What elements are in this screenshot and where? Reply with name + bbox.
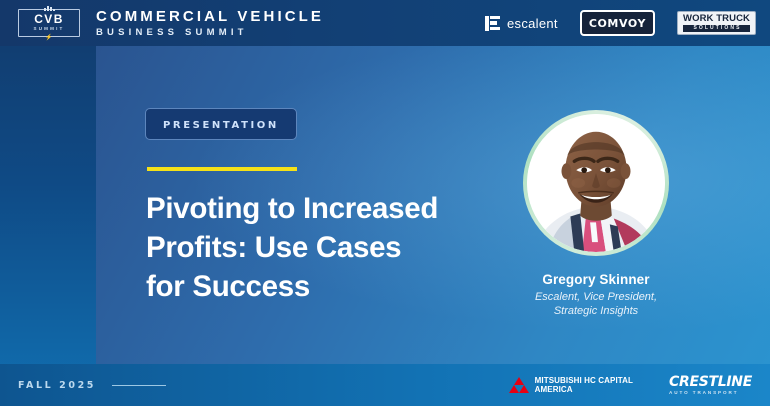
crestline-line-1: CRESTLINE <box>669 375 752 389</box>
slide-left-band <box>0 0 96 406</box>
event-brand-text: COMMERCIAL VEHICLE BUSINESS SUMMIT <box>96 9 324 38</box>
speaker-avatar <box>527 114 665 252</box>
cvb-logo-main: CVB <box>34 14 64 25</box>
accent-rule <box>147 167 297 171</box>
presentation-badge-label: PRESENTATION <box>163 120 279 131</box>
crestline-line-2: AUTO TRANSPORT <box>669 391 752 396</box>
partner-logo-comvoy: COMVOY <box>580 10 655 36</box>
work-truck-line-2: SOLUTIONS <box>683 25 750 32</box>
slide-title: Pivoting to Increased Profits: Use Cases… <box>146 189 495 306</box>
mitsubishi-line-2: AMERICA <box>535 385 633 395</box>
work-truck-line-1: WORK TRUCK <box>683 14 750 24</box>
slide-title-line-2: Profits: Use Cases <box>146 228 495 267</box>
brand-line-2: BUSINESS SUMMIT <box>96 28 324 38</box>
speaker-photo-ring <box>523 110 669 256</box>
sponsor-logo-mitsubishi: MITSUBISHI HC CAPITAL AMERICA <box>510 376 633 395</box>
truck-silhouette-icon <box>36 6 62 11</box>
bolt-icon: ⚡ <box>45 35 52 41</box>
cvb-logo-box: CVB SUMMIT <box>18 9 80 37</box>
cvb-logo-sub: SUMMIT <box>34 25 65 32</box>
presentation-slide: CVB SUMMIT ⚡ COMMERCIAL VEHICLE BUSINESS… <box>0 0 770 406</box>
comvoy-wordmark: COMVOY <box>589 17 646 30</box>
cvb-summit-logo: CVB SUMMIT ⚡ <box>16 5 82 41</box>
speaker-role-line-2: Strategic Insights <box>516 304 676 318</box>
speaker-block: Gregory Skinner Escalent, Vice President… <box>516 110 676 318</box>
slide-footer: FALL 2025 MITSUBISHI HC CAPITAL AMERICA … <box>0 364 770 406</box>
slide-title-line-1: Pivoting to Increased <box>146 189 495 228</box>
sponsor-logo-crestline: CRESTLINE AUTO TRANSPORT <box>669 375 752 396</box>
sponsor-logos: MITSUBISHI HC CAPITAL AMERICA CRESTLINE … <box>510 375 752 396</box>
slide-header: CVB SUMMIT ⚡ COMMERCIAL VEHICLE BUSINESS… <box>0 0 770 46</box>
season-label: FALL 2025 <box>18 380 96 391</box>
footer-divider <box>112 385 166 386</box>
mitsubishi-three-diamond-icon <box>510 377 528 393</box>
partner-logo-work-truck-solutions: WORK TRUCK SOLUTIONS <box>677 11 756 36</box>
speaker-role: Escalent, Vice President, Strategic Insi… <box>516 290 676 318</box>
escalent-wordmark: escalent <box>507 16 558 31</box>
mitsubishi-wordmark: MITSUBISHI HC CAPITAL AMERICA <box>535 376 633 395</box>
mitsubishi-line-1: MITSUBISHI HC CAPITAL <box>535 376 633 386</box>
brand-line-1: COMMERCIAL VEHICLE <box>96 9 324 24</box>
escalent-e-mark-icon <box>485 16 500 31</box>
presentation-badge: PRESENTATION <box>145 108 297 140</box>
speaker-name: Gregory Skinner <box>516 272 676 287</box>
partner-logos: escalent COMVOY WORK TRUCK SOLUTIONS <box>485 10 756 36</box>
slide-title-line-3: for Success <box>146 267 495 306</box>
slide-main-content: PRESENTATION Pivoting to Increased Profi… <box>145 108 495 306</box>
speaker-role-line-1: Escalent, Vice President, <box>516 290 676 304</box>
partner-logo-escalent: escalent <box>485 16 558 31</box>
